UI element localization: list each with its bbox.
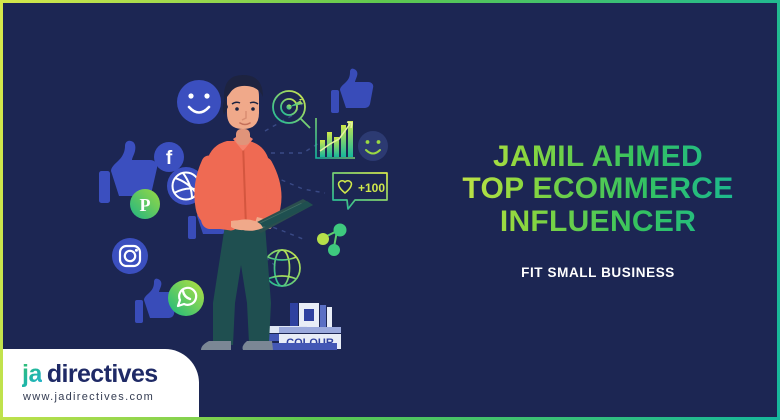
promo-banner: f P [0, 0, 780, 420]
share-node-icon [317, 224, 347, 257]
globe-icon [264, 250, 300, 286]
whatsapp-icon [168, 280, 204, 316]
target-icon [273, 91, 310, 128]
bar-chart-widget [316, 118, 355, 158]
logo-word: directives [47, 360, 158, 388]
banner-inner: f P [3, 3, 777, 417]
headline: JAMIL AHMED TOP ECOMMERCE INFLUENCER [433, 141, 763, 238]
logo-panel[interactable]: jadirectives www.jadirectives.com [3, 349, 199, 417]
smiley-outline-icon [358, 131, 388, 161]
svg-text:P: P [140, 195, 151, 215]
facebook-icon: f [154, 142, 184, 172]
likes-bubble: +100 [333, 173, 387, 209]
logo-wordmark: jadirectives [22, 360, 158, 389]
logo-mark: ja [22, 360, 42, 388]
headline-line-3: INFLUENCER [433, 206, 763, 238]
logo-url: www.jadirectives.com [23, 391, 154, 403]
headline-line-2: TOP ECOMMERCE [433, 173, 763, 205]
svg-text:f: f [166, 148, 173, 169]
books-stack: COLOUR [267, 303, 341, 350]
likes-bubble-label: +100 [358, 181, 385, 195]
subtitle: FIT SMALL BUSINESS [433, 265, 763, 280]
headline-line-1: JAMIL AHMED [433, 141, 763, 173]
smiley-icon [177, 80, 221, 124]
instagram-icon [112, 238, 148, 274]
pinterest-icon: P [130, 189, 160, 219]
thumbs-up-icon-small-3 [331, 69, 373, 113]
